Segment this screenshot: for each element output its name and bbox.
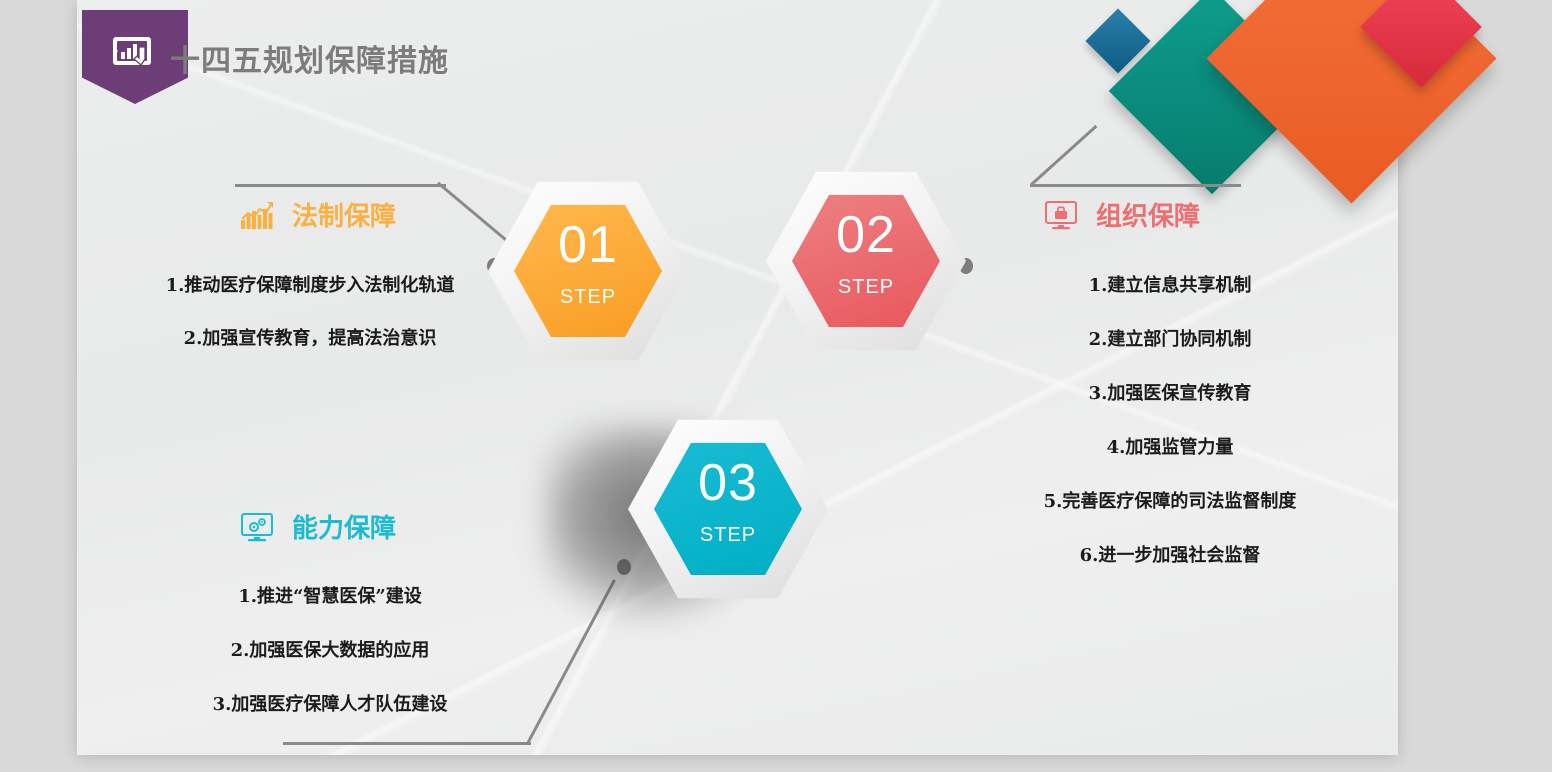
list-item: 4.加强监管力量 xyxy=(1020,434,1320,461)
slide-stage: 十四五规划保障措施 01 STEP 02 STEP 03 STEP xyxy=(0,0,1552,772)
monitor-briefcase-icon xyxy=(1044,200,1078,230)
section-heading-legal: 法制保障 xyxy=(240,196,396,233)
page-title: 十四五规划保障措施 xyxy=(170,36,449,80)
list-item: 1.推进“智慧医保”建设 xyxy=(185,583,475,610)
list-item: 5.完善医疗保障的司法监督制度 xyxy=(1020,488,1320,515)
step-hexagon-01[interactable]: 01 STEP xyxy=(488,178,688,364)
list-item: 3.加强医保宣传教育 xyxy=(1020,380,1320,407)
step-number-03: 03 xyxy=(628,457,828,509)
section-title-capability: 能力保障 xyxy=(292,508,396,545)
list-item: 2.加强医保大数据的应用 xyxy=(185,637,475,664)
step-number-02: 02 xyxy=(766,209,966,261)
step-label-01: STEP xyxy=(488,286,688,309)
section-list-capability: 1.推进“智慧医保”建设 2.加强医保大数据的应用 3.加强医疗保障人才队伍建设 xyxy=(185,583,475,718)
monitor-gears-icon xyxy=(240,512,274,542)
list-item: 1.建立信息共享机制 xyxy=(1020,272,1320,299)
step-hexagon-03[interactable]: 03 STEP xyxy=(628,416,828,602)
list-item: 6.进一步加强社会监督 xyxy=(1020,542,1320,569)
section-list-organization: 1.建立信息共享机制 2.建立部门协同机制 3.加强医保宣传教育 4.加强监管力… xyxy=(1020,272,1320,569)
section-list-legal: 1.推动医疗保障制度步入法制化轨道 2.加强宣传教育，提高法治意识 xyxy=(155,272,465,352)
step-label-02: STEP xyxy=(766,276,966,299)
section-heading-capability: 能力保障 xyxy=(240,508,396,545)
section-title-legal: 法制保障 xyxy=(292,196,396,233)
section-heading-organization: 组织保障 xyxy=(1044,196,1200,233)
list-item: 2.建立部门协同机制 xyxy=(1020,326,1320,353)
list-item: 3.加强医疗保障人才队伍建设 xyxy=(185,691,475,718)
list-item: 1.推动医疗保障制度步入法制化轨道 xyxy=(155,272,465,299)
step-number-01: 01 xyxy=(488,219,688,271)
step-hexagon-02[interactable]: 02 STEP xyxy=(766,168,966,354)
list-item: 2.加强宣传教育，提高法治意识 xyxy=(155,325,465,352)
connector-line-02-horizontal xyxy=(1030,184,1241,187)
connector-line-01-horizontal xyxy=(235,184,446,187)
tablet-chart-touch-icon xyxy=(109,33,157,73)
connector-line-03-horizontal xyxy=(283,742,531,745)
step-label-03: STEP xyxy=(628,524,828,547)
bar-chart-growth-icon xyxy=(240,200,274,230)
section-title-organization: 组织保障 xyxy=(1096,196,1200,233)
